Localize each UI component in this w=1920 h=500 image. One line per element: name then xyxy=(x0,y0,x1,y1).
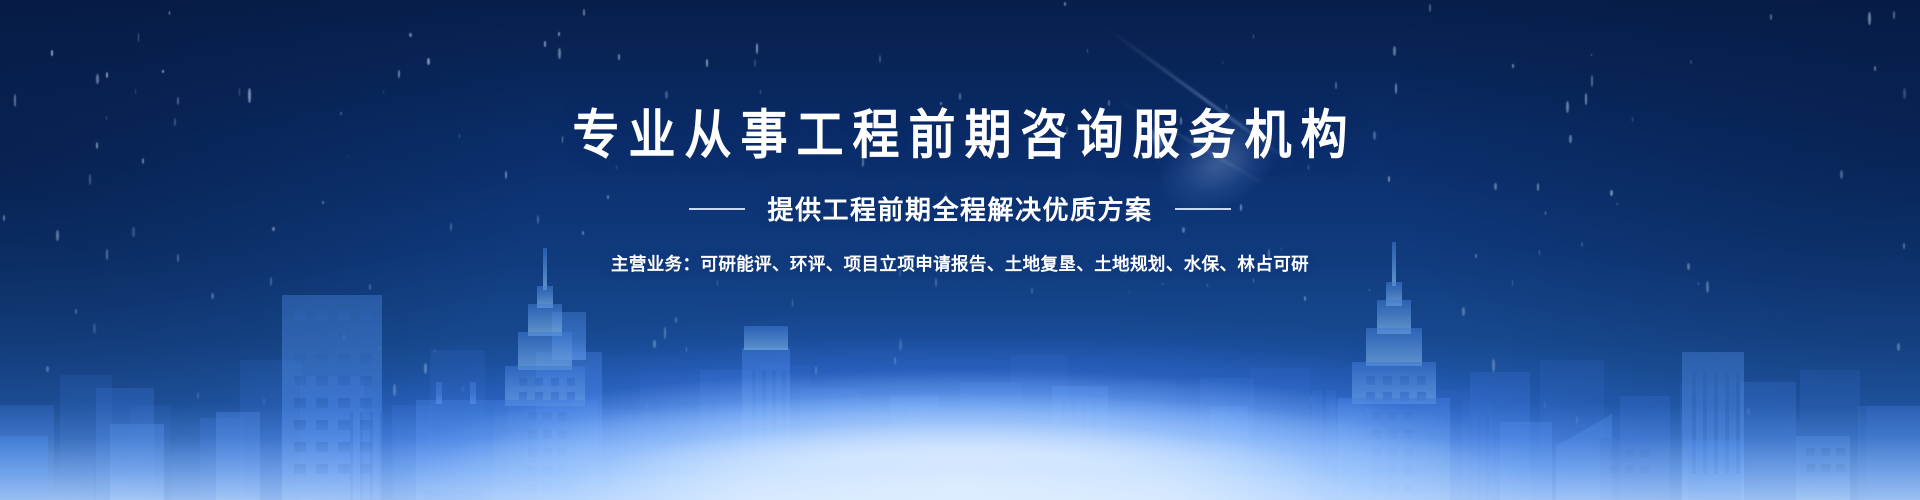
decor-dash-right-icon xyxy=(1175,208,1231,210)
banner-content: 专业从事工程前期咨询服务机构 提供工程前期全程解决优质方案 主营业务：可研能评、… xyxy=(0,0,1920,500)
banner-business-scope: 主营业务：可研能评、环评、项目立项申请报告、土地复垦、土地规划、水保、林占可研 xyxy=(611,251,1309,276)
decor-dash-left-icon xyxy=(689,208,745,210)
hero-banner: 专业从事工程前期咨询服务机构 提供工程前期全程解决优质方案 主营业务：可研能评、… xyxy=(0,0,1920,500)
banner-subheadline-row: 提供工程前期全程解决优质方案 xyxy=(689,190,1230,227)
banner-headline: 专业从事工程前期咨询服务机构 xyxy=(564,108,1357,161)
banner-subheadline: 提供工程前期全程解决优质方案 xyxy=(767,190,1152,227)
